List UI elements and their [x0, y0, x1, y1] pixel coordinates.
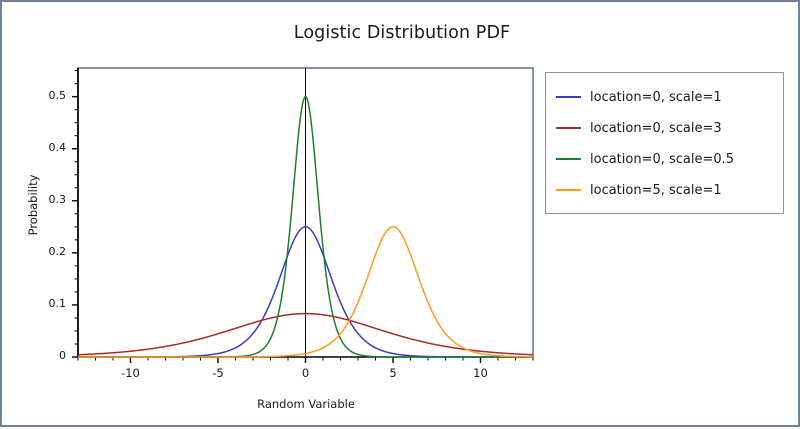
plot-area [2, 2, 800, 429]
x-tick-label: -10 [111, 366, 151, 380]
x-tick-label: 10 [461, 366, 501, 380]
y-tick-label: 0 [24, 349, 66, 362]
legend-item[interactable]: location=0, scale=0.5 [556, 146, 734, 172]
legend-color-swatch [556, 158, 581, 161]
figure-canvas: Logistic Distribution PDF Probability Ra… [0, 0, 800, 427]
legend-color-swatch [556, 127, 581, 130]
x-tick-label: 0 [286, 366, 326, 380]
legend-item-label: location=5, scale=1 [590, 183, 722, 198]
legend-item[interactable]: location=0, scale=3 [556, 115, 722, 141]
y-tick-label: 0.4 [24, 141, 66, 154]
legend-color-swatch [556, 189, 581, 192]
legend-item-label: location=0, scale=0.5 [590, 152, 734, 167]
y-tick-label: 0.2 [24, 245, 66, 258]
legend-item[interactable]: location=0, scale=1 [556, 84, 722, 110]
legend[interactable]: location=0, scale=1location=0, scale=3lo… [545, 72, 784, 214]
legend-item[interactable]: location=5, scale=1 [556, 177, 722, 203]
legend-item-label: location=0, scale=1 [590, 90, 722, 105]
legend-color-swatch [556, 96, 581, 99]
y-tick-label: 0.1 [24, 297, 66, 310]
y-tick-label: 0.5 [24, 89, 66, 102]
y-tick-label: 0.3 [24, 193, 66, 206]
x-axis-label: Random Variable [77, 397, 535, 411]
x-tick-label: 5 [373, 366, 413, 380]
x-tick-label: -5 [198, 366, 238, 380]
legend-item-label: location=0, scale=3 [590, 121, 722, 136]
